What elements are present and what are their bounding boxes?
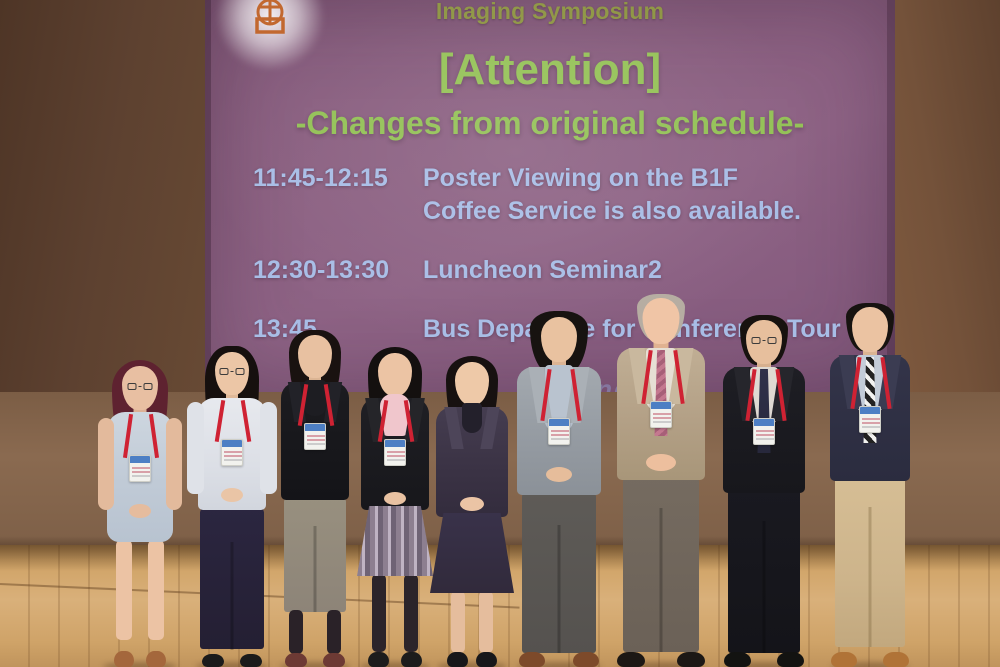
symposium-emblem-icon (228, 0, 312, 56)
face (852, 307, 888, 352)
shoe (519, 652, 545, 667)
shoe (883, 652, 909, 667)
person-2 (185, 342, 279, 667)
shoe (617, 652, 645, 667)
shoe (202, 654, 224, 667)
glasses-icon (220, 368, 245, 375)
glasses-icon (128, 383, 153, 390)
name-badge (650, 401, 672, 428)
agenda-row: 12:30-13:30 Luncheon Seminar2 (253, 258, 873, 283)
face (643, 298, 680, 344)
name-badge (548, 418, 570, 445)
agenda-time: 12:30-13:30 (253, 258, 423, 283)
name-badge (859, 406, 881, 433)
name-badge (384, 439, 406, 466)
shoe (777, 652, 804, 667)
face (541, 317, 577, 362)
agenda-desc: Luncheon Seminar2 (423, 258, 873, 283)
person-7 (605, 294, 717, 667)
agenda-desc: Poster Viewing on the B1F (423, 166, 873, 191)
shoe (573, 652, 599, 667)
skirt (430, 513, 514, 593)
shoe (114, 651, 134, 667)
shoe (323, 653, 345, 667)
face (298, 335, 332, 378)
shoe (368, 652, 389, 667)
group-photo-scene: Imaging Symposium [Attention] -Changes f… (0, 0, 1000, 667)
shoe (146, 651, 166, 667)
symposium-logo (228, 0, 312, 56)
shoe (677, 652, 705, 667)
glasses-icon (752, 337, 777, 344)
shoe (240, 654, 262, 667)
slide-subtitle-text: -Changes from original schedule- (205, 105, 895, 142)
shoe (831, 652, 857, 667)
person-1 (92, 352, 188, 667)
agenda-spacer (253, 232, 873, 258)
person-6 (505, 311, 613, 667)
agenda-desc: Coffee Service is also available. (423, 199, 873, 224)
skirt (357, 506, 433, 576)
shoe (724, 652, 751, 667)
shoe (285, 653, 307, 667)
name-badge (129, 455, 151, 482)
shoe (447, 652, 468, 667)
name-badge (221, 439, 243, 466)
shoe (401, 652, 422, 667)
agenda-time: 11:45-12:15 (253, 166, 423, 191)
person-9 (818, 303, 922, 667)
agenda-row: Coffee Service is also available. (253, 199, 873, 224)
face (455, 362, 489, 405)
shoe (476, 652, 497, 667)
name-badge (753, 418, 775, 445)
agenda-row: 11:45-12:15 Poster Viewing on the B1F (253, 166, 873, 191)
name-badge (304, 423, 326, 450)
face (378, 353, 412, 396)
person-8 (712, 315, 816, 667)
